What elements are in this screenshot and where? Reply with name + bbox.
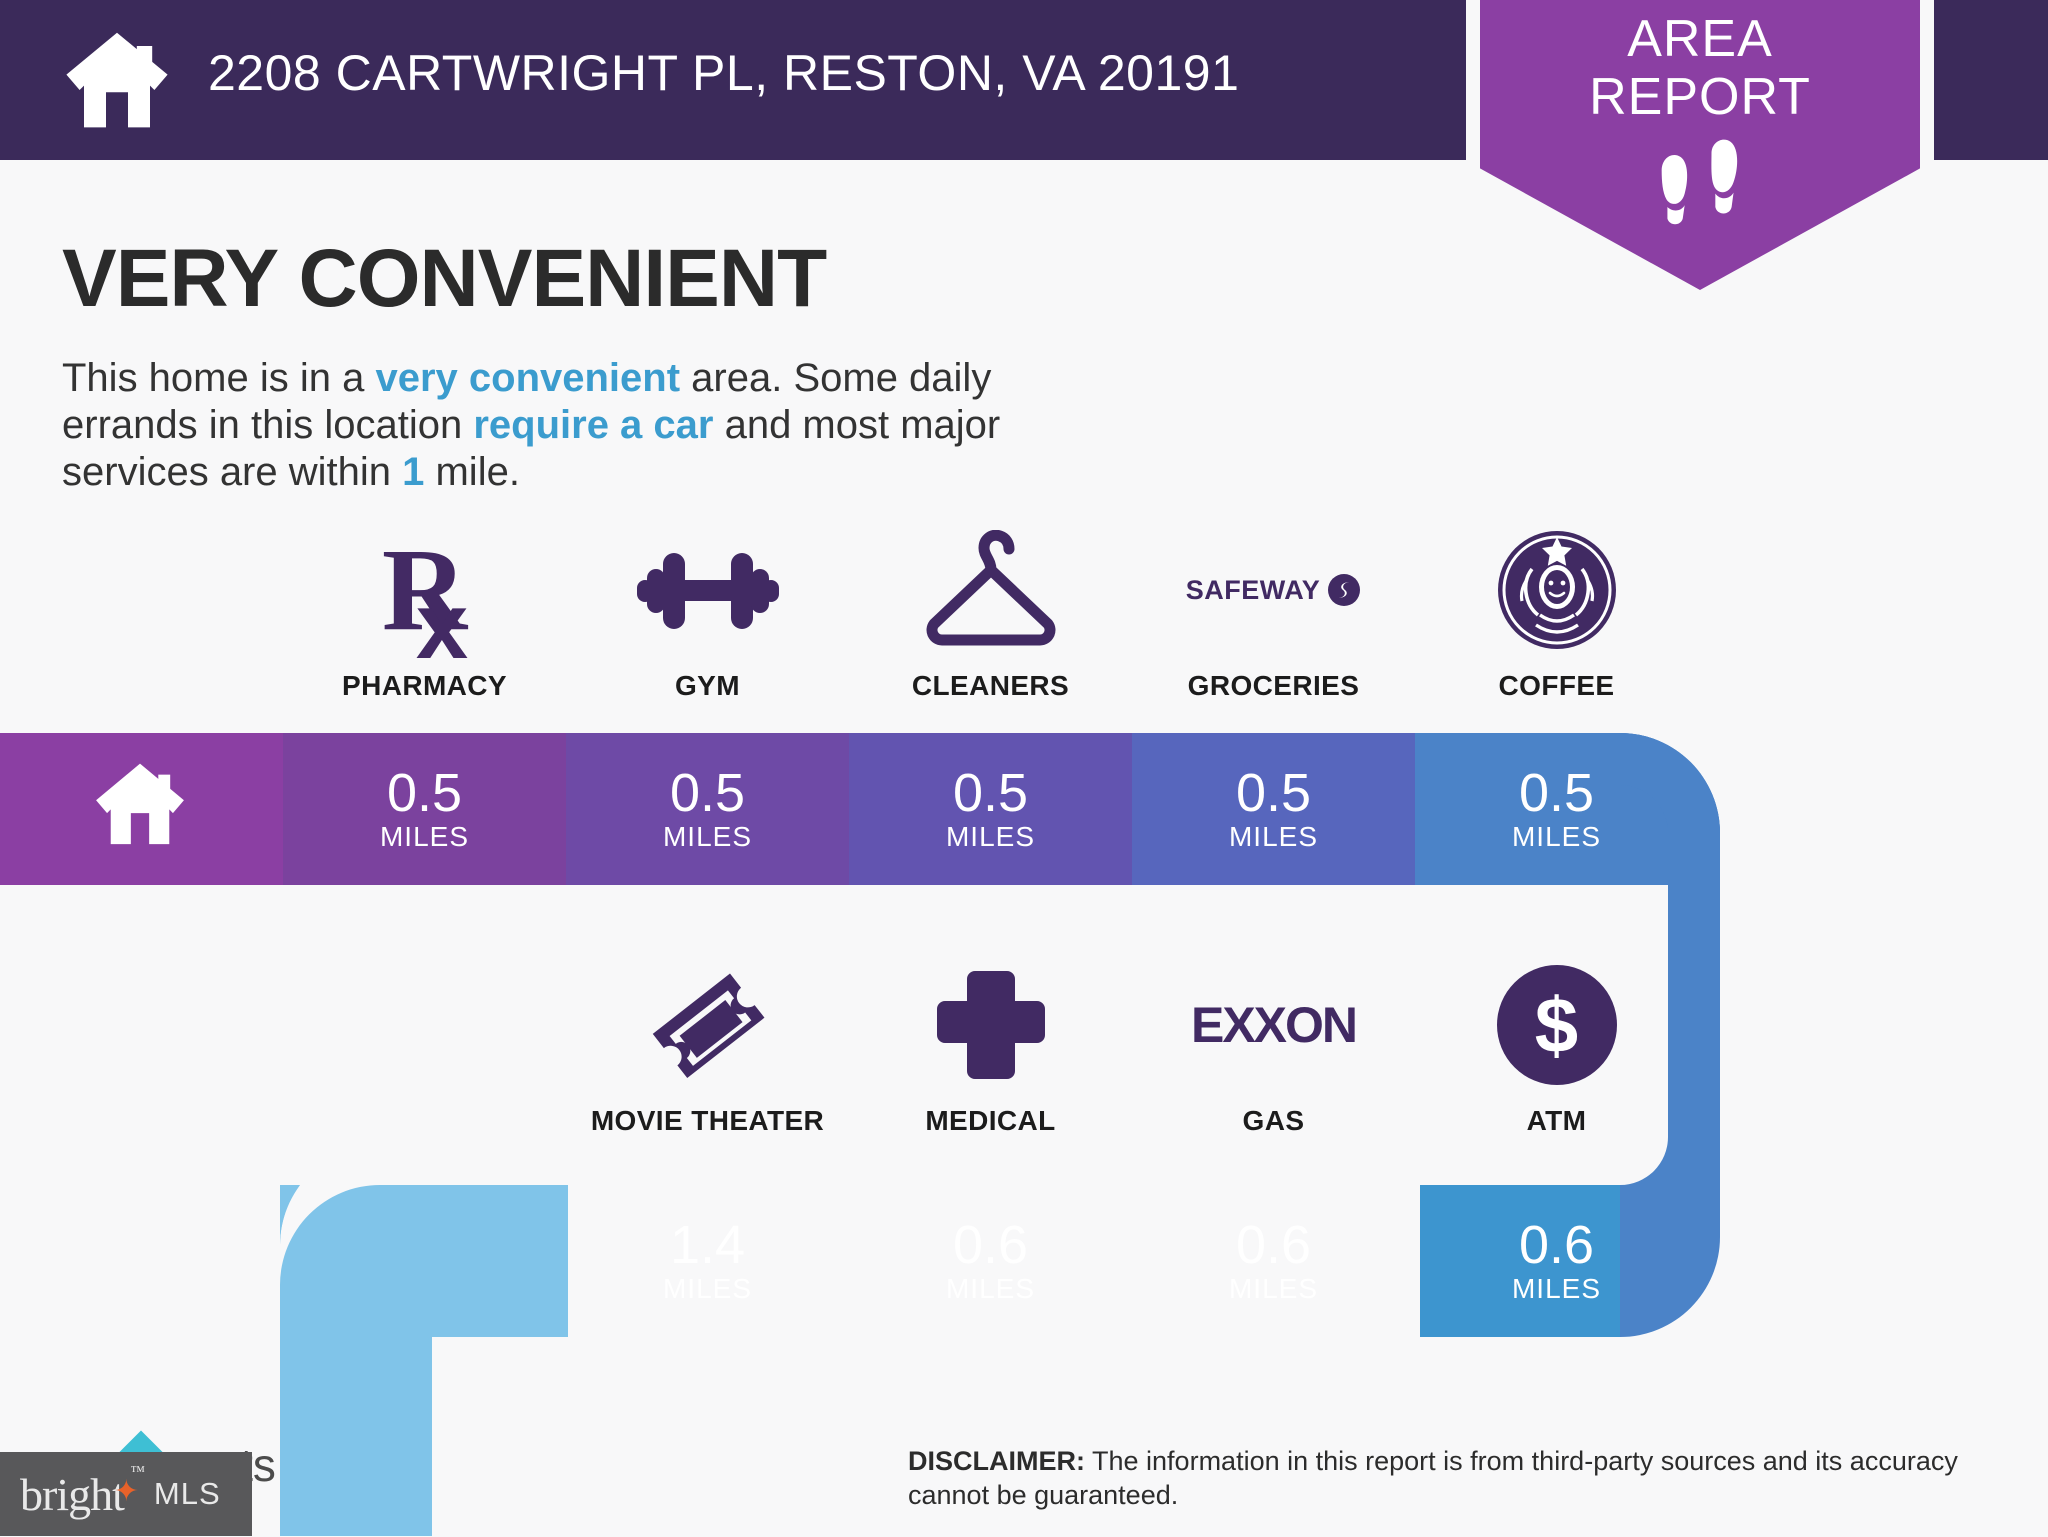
bar-segment-pharmacy — [283, 733, 566, 885]
exxon-wordmark: EXXON — [1191, 996, 1356, 1054]
service-cell-gas: EXXON GAS — [1132, 955, 1415, 1137]
service-cell-movie: MOVIE THEATER — [566, 955, 849, 1137]
bar-segment-groceries — [1132, 733, 1415, 885]
watermark-bright-text: bright ✦ ™ — [20, 1468, 124, 1521]
service-label-gym: GYM — [566, 670, 849, 702]
bar-segment-tail — [280, 1185, 566, 1337]
service-label-movie: MOVIE THEATER — [566, 1105, 849, 1137]
disclaimer: DISCLAIMER: The information in this repo… — [908, 1444, 1978, 1512]
service-cell-coffee: COFFEE — [1415, 520, 1698, 702]
service-cell-cleaners: CLEANERS — [849, 520, 1132, 702]
distance-snake-path — [0, 0, 2048, 1536]
disclaimer-label: DISCLAIMER: — [908, 1446, 1085, 1476]
medical-cross-icon — [849, 955, 1132, 1095]
service-label-medical: MEDICAL — [849, 1105, 1132, 1137]
atm-circle: $ — [1497, 965, 1617, 1085]
bar-segment-gas — [1132, 1185, 1415, 1337]
dumbbell-icon — [566, 520, 849, 660]
service-cell-atm: $ ATM — [1415, 955, 1698, 1137]
service-cell-groceries: SAFEWAY GROCERIES — [1132, 520, 1415, 702]
rx-icon: Rx — [283, 520, 566, 660]
bar-segment-cleaners — [849, 733, 1132, 885]
service-label-cleaners: CLEANERS — [849, 670, 1132, 702]
bar-segment-medical — [849, 1185, 1132, 1337]
service-cell-gym: GYM — [566, 520, 849, 702]
safeway-wordmark: SAFEWAY — [1186, 575, 1321, 606]
bar-segment-atm — [1415, 1185, 1720, 1337]
service-label-atm: ATM — [1415, 1105, 1698, 1137]
service-label-gas: GAS — [1132, 1105, 1415, 1137]
service-cell-pharmacy: Rx PHARMACY — [283, 520, 566, 702]
watermark-tm: ™ — [130, 1464, 144, 1481]
hanger-icon — [849, 520, 1132, 660]
dollar-icon: $ — [1415, 955, 1698, 1095]
bar-segment-movie — [566, 1185, 849, 1337]
safeway-s-mark — [1327, 573, 1361, 607]
service-cell-medical: MEDICAL — [849, 955, 1132, 1137]
watermark-bright-label: bright — [20, 1469, 124, 1520]
service-label-coffee: COFFEE — [1415, 670, 1698, 702]
bright-mls-watermark: bright ✦ ™ MLS — [0, 1452, 252, 1536]
home-icon-bar — [94, 760, 186, 846]
ticket-icon — [566, 955, 849, 1095]
watermark-mls-label: MLS — [154, 1476, 221, 1512]
bar-segment-gym — [566, 733, 849, 885]
service-label-groceries: GROCERIES — [1132, 670, 1415, 702]
bar-elbow-left — [280, 1185, 440, 1536]
starbucks-logo — [1415, 520, 1698, 660]
safeway-logo: SAFEWAY — [1132, 520, 1415, 660]
exxon-logo: EXXON — [1132, 955, 1415, 1095]
